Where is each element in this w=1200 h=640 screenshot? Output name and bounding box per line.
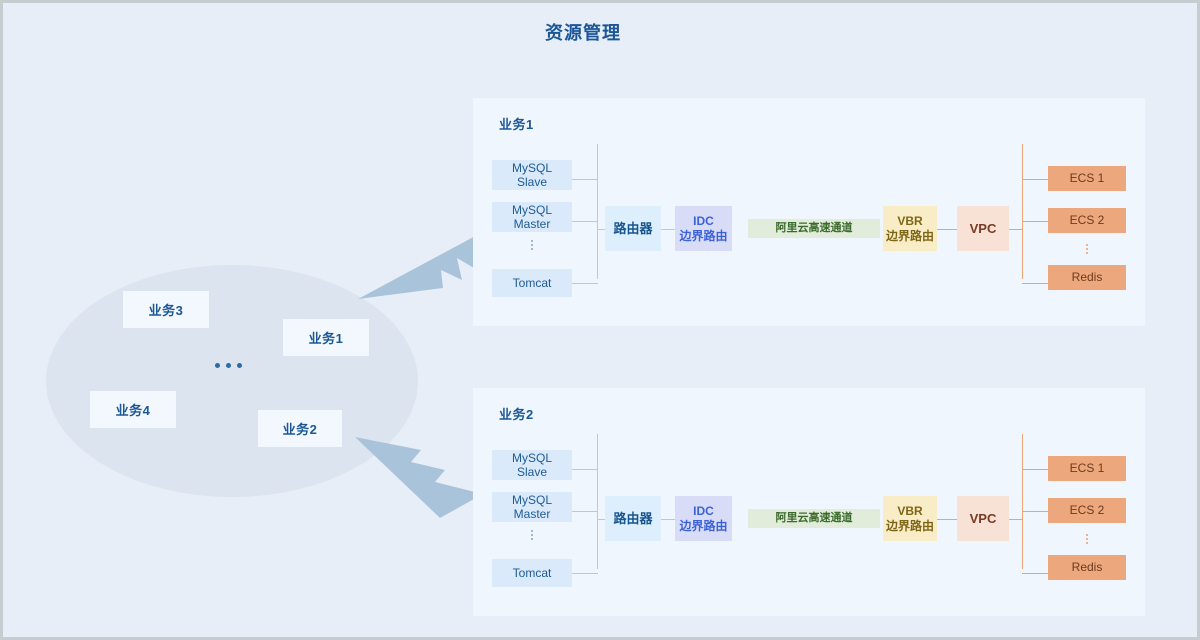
node-label-line1: Tomcat — [513, 566, 552, 580]
node-label-line1: MySQL — [512, 493, 552, 507]
vbr-to-vpc-line — [937, 229, 957, 230]
source-branch-line — [572, 511, 598, 512]
node-mysql-master[interactable]: MySQL Master — [492, 202, 572, 232]
node-label-line2: 边界路由 — [679, 519, 727, 533]
node-label-line1: VBR — [897, 504, 922, 518]
node-idc-border-router[interactable]: IDC 边界路由 — [675, 206, 732, 251]
panel-business1: 业务1 MySQL Slave MySQL Master Tomcat — [473, 98, 1145, 326]
cloud-chip-label: 业务3 — [149, 300, 184, 319]
node-label-line1: 阿里云高速通道 — [776, 512, 853, 525]
source-branch-line — [572, 469, 598, 470]
node-redis[interactable]: Redis — [1048, 265, 1126, 290]
target-branch-line — [1022, 573, 1048, 574]
node-label-line1: ECS 1 — [1070, 171, 1105, 185]
page-title: 资源管理 — [3, 19, 1163, 45]
node-label-line2: Master — [514, 507, 551, 521]
node-vbr-border-router[interactable]: VBR 边界路由 — [883, 206, 937, 251]
target-trunk-line — [1022, 434, 1023, 569]
bolt-arrow-upper-icon — [358, 199, 483, 304]
node-vpc[interactable]: VPC — [957, 496, 1009, 541]
node-label-line1: MySQL — [512, 161, 552, 175]
node-idc-border-router[interactable]: IDC 边界路由 — [675, 496, 732, 541]
node-mysql-slave[interactable]: MySQL Slave — [492, 450, 572, 480]
business-cloud-ellipse — [46, 265, 418, 497]
node-label-line1: ECS 2 — [1070, 213, 1105, 227]
node-label-line1: 阿里云高速通道 — [776, 222, 853, 235]
node-tomcat[interactable]: Tomcat — [492, 559, 572, 587]
node-router[interactable]: 路由器 — [605, 206, 661, 251]
router-to-idc-line — [661, 229, 675, 230]
target-branch-line — [1022, 283, 1048, 284]
source-branch-line — [572, 573, 598, 574]
node-label-line1: VBR — [897, 214, 922, 228]
node-ecs-1[interactable]: ECS 1 — [1048, 456, 1126, 481]
target-ellipsis-icon — [1083, 534, 1091, 544]
vbr-to-vpc-line — [937, 519, 957, 520]
cloud-chip-label: 业务2 — [283, 419, 318, 438]
target-branch-line — [1022, 511, 1048, 512]
node-label-line1: MySQL — [512, 203, 552, 217]
node-redis[interactable]: Redis — [1048, 555, 1126, 580]
cloud-chip-business2[interactable]: 业务2 — [258, 410, 342, 447]
vpc-to-trunk-line — [1009, 229, 1022, 230]
panel-business2: 业务2 MySQL Slave MySQL Master Tomcat 路 — [473, 388, 1145, 616]
node-express-connect-channel[interactable]: 阿里云高速通道 — [748, 219, 880, 238]
cloud-ellipsis-icon — [215, 363, 242, 368]
source-branch-line — [572, 283, 598, 284]
vpc-to-trunk-line — [1009, 519, 1022, 520]
source-trunk-line — [597, 144, 598, 279]
cloud-chip-business3[interactable]: 业务3 — [123, 291, 209, 328]
node-label-line1: MySQL — [512, 451, 552, 465]
source-ellipsis-icon — [528, 530, 536, 540]
source-ellipsis-icon — [528, 240, 536, 250]
cloud-chip-business1[interactable]: 业务1 — [283, 319, 369, 356]
node-router[interactable]: 路由器 — [605, 496, 661, 541]
panel-stage: MySQL Slave MySQL Master Tomcat 路由器 IDC … — [473, 98, 1145, 326]
node-label-line2: 边界路由 — [886, 229, 934, 243]
node-label-line1: ECS 1 — [1070, 461, 1105, 475]
node-label-line1: IDC — [693, 214, 714, 228]
cloud-chip-business4[interactable]: 业务4 — [90, 391, 176, 428]
cloud-chip-label: 业务1 — [309, 328, 344, 347]
node-mysql-master[interactable]: MySQL Master — [492, 492, 572, 522]
node-vbr-border-router[interactable]: VBR 边界路由 — [883, 496, 937, 541]
node-label-line2: Master — [514, 217, 551, 231]
node-label-line1: ECS 2 — [1070, 503, 1105, 517]
diagram-canvas: 资源管理 业务3 业务1 业务4 业务2 业务1 — [3, 3, 1197, 637]
node-label-line1: Redis — [1072, 560, 1103, 574]
source-trunk-line — [597, 434, 598, 569]
node-mysql-slave[interactable]: MySQL Slave — [492, 160, 572, 190]
node-label-line1: Tomcat — [513, 276, 552, 290]
node-label-line1: VPC — [970, 221, 997, 236]
source-branch-line — [572, 221, 598, 222]
node-label-line2: Slave — [517, 175, 547, 189]
node-label-line2: Slave — [517, 465, 547, 479]
node-label-line1: VPC — [970, 511, 997, 526]
node-tomcat[interactable]: Tomcat — [492, 269, 572, 297]
source-branch-line — [572, 179, 598, 180]
target-trunk-line — [1022, 144, 1023, 279]
node-label-line1: Redis — [1072, 270, 1103, 284]
node-express-connect-channel[interactable]: 阿里云高速通道 — [748, 509, 880, 528]
node-ecs-1[interactable]: ECS 1 — [1048, 166, 1126, 191]
target-ellipsis-icon — [1083, 244, 1091, 254]
target-branch-line — [1022, 221, 1048, 222]
cloud-chip-label: 业务4 — [116, 400, 151, 419]
node-label-line1: IDC — [693, 504, 714, 518]
node-ecs-2[interactable]: ECS 2 — [1048, 208, 1126, 233]
target-branch-line — [1022, 469, 1048, 470]
target-branch-line — [1022, 179, 1048, 180]
node-label-line1: 路由器 — [613, 221, 652, 236]
router-to-idc-line — [661, 519, 675, 520]
node-ecs-2[interactable]: ECS 2 — [1048, 498, 1126, 523]
panel-stage: MySQL Slave MySQL Master Tomcat 路由器 IDC … — [473, 388, 1145, 616]
node-label-line2: 边界路由 — [679, 229, 727, 243]
node-vpc[interactable]: VPC — [957, 206, 1009, 251]
node-label-line2: 边界路由 — [886, 519, 934, 533]
node-label-line1: 路由器 — [613, 511, 652, 526]
